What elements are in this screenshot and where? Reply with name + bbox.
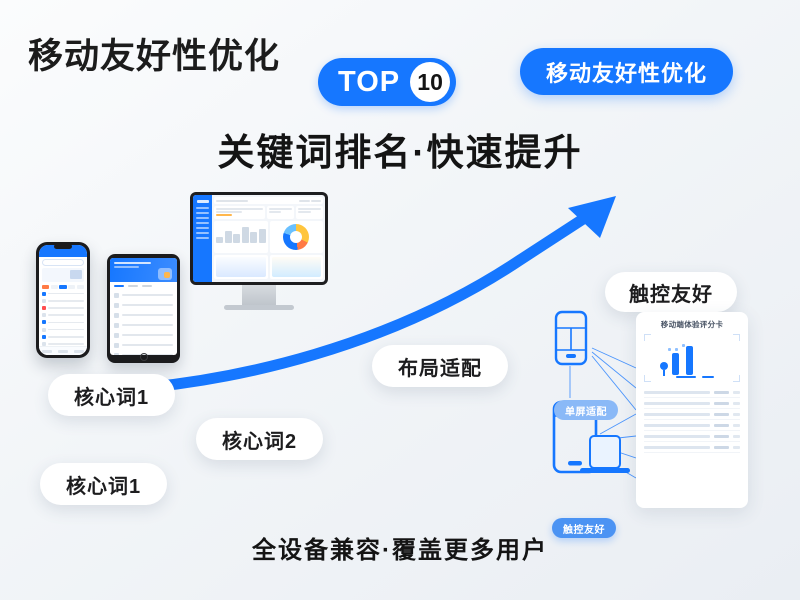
header-blue-pill: 移动友好性优化 [520,48,733,95]
list-icon [114,323,119,328]
list-item [110,330,177,340]
top-rank-badge: TOP 10 [318,58,456,106]
footer-tagline: 全设备兼容·覆盖更多用户 [0,530,800,565]
list-text [122,334,173,336]
donut-chart-card [270,221,324,253]
list-icon [114,353,119,356]
list-text [122,344,173,346]
list-item [39,319,87,326]
scorecard-row [644,442,740,453]
touch-friendly-diagram: 触控友好 单屏适配 触控友好 移动端体验评分卡 [540,262,790,512]
row-value [714,413,729,416]
list-item [39,304,87,311]
stat-card [267,206,294,219]
toolbar-search-icon [216,200,248,202]
scorecard-bars [658,340,726,375]
list-text [122,314,173,316]
top-badge-number: 10 [410,62,450,102]
sidebar-nav-item [196,217,209,219]
tab-item [142,285,152,287]
layout-adapt-pill: 布局适配 [372,345,508,387]
area-chart-card [270,255,324,279]
toolbar-item [299,200,310,202]
scorecard-row [644,409,740,420]
row-label [644,391,710,394]
row-value [714,424,729,427]
dashboard-chart-row [214,221,323,253]
list-item [110,290,177,300]
row-score [733,435,740,438]
keyword-pill-3: 核心词1 [40,463,167,505]
phone-promo-card [42,268,84,282]
list-icon [42,320,46,324]
row-score [733,402,740,405]
hero-illustration-icon [158,268,172,280]
list-icon [42,306,46,310]
tablet-hero-banner [110,258,177,282]
row-value [714,446,729,449]
dashboard-main [212,195,325,282]
row-label [644,402,710,405]
row-label [644,446,710,449]
dashboard-filter-row [214,206,323,219]
row-value [714,391,729,394]
monitor-screen [190,192,328,285]
list-text [48,314,84,316]
scorecard-row [644,431,740,442]
bar [233,234,240,243]
stat-card [296,206,323,219]
device-cluster [22,192,322,392]
filter-card [214,206,265,219]
monitor-base [224,305,294,310]
phone-search-input [42,259,84,266]
dashboard-logo-icon [197,200,209,203]
scorecard-row [644,420,740,431]
list-icon [42,328,46,332]
phone-tab-bar [39,346,87,355]
bar [259,229,266,243]
top-badge-word: TOP [338,66,400,99]
sidebar-nav-item [196,207,209,209]
chip [42,285,49,289]
list-text [48,329,84,331]
keyword-pill-2: 核心词2 [196,418,323,460]
row-value [714,402,729,405]
list-icon [42,292,46,296]
list-item [39,312,87,319]
baseline [676,376,696,378]
list-text [48,322,84,324]
scorecard-row [644,398,740,409]
list-icon [42,335,46,339]
dashboard-trend-row [214,255,323,279]
desktop-monitor [190,192,328,310]
phone-screen [39,245,87,355]
bar [225,231,232,243]
list-item [39,290,87,297]
phone-chip-row [39,283,87,290]
sidebar-nav-item [196,232,209,234]
device-badge-single-screen: 单屏适配 [554,400,618,420]
row-score [733,413,740,416]
bar-chart [216,223,266,243]
bar [672,353,679,375]
dashboard-sidebar [193,195,212,282]
row-score [733,424,740,427]
page-title: 移动友好性优化 [28,28,280,79]
row-label [644,424,710,427]
list-item [39,333,87,340]
chip [59,285,66,289]
list-item [110,320,177,330]
list-text [48,336,84,338]
mobile-experience-scorecard: 移动端体验评分卡 [636,312,748,508]
row-value [714,435,729,438]
tab-bar-item [74,350,84,353]
placeholder-line-accent [216,214,232,216]
tablet-tabs [110,282,177,290]
list-item [110,310,177,320]
chip [68,285,75,289]
placeholder-line [269,211,282,213]
placeholder-line [216,211,242,213]
bar-chart-card [214,221,268,253]
list-text [122,294,173,296]
row-label [644,435,710,438]
toolbar-item [311,200,322,202]
tab-item [128,285,138,287]
bar [686,346,693,375]
list-icon [114,333,119,338]
donut-chart [283,224,309,250]
list-item [39,326,87,333]
line-chart [216,257,266,277]
tablet-screen [110,258,177,355]
list-icon [114,313,119,318]
list-item [110,300,177,310]
dashboard-ui [193,195,325,282]
list-text [48,307,84,309]
tablet-device [107,254,180,363]
tab-bar-item [58,350,68,353]
keyword-pill-1: 核心词1 [48,374,175,416]
list-text [122,324,173,326]
phone-device [36,242,90,358]
sidebar-nav-item [196,227,209,229]
tablet-home-button [140,353,148,361]
location-pin-icon [660,362,668,370]
line-chart-card [214,255,268,279]
chip [77,285,84,289]
frame-corner-icon [733,334,740,341]
promo-thumbnail [70,270,82,279]
list-item [110,340,177,350]
tab-item [114,285,124,287]
list-icon [42,299,46,303]
bar [250,232,257,243]
scorecard-chart [644,334,740,382]
row-label [644,413,710,416]
bar [242,227,249,243]
placeholder-line [216,208,263,210]
list-text [48,300,84,302]
placeholder-line [298,208,321,210]
scorecard-title: 移动端体验评分卡 [644,319,740,330]
row-score [733,446,740,449]
phone-notch [54,244,72,249]
list-text [122,354,173,355]
placeholder-line [114,262,151,264]
row-score [733,391,740,394]
list-icon [114,293,119,298]
area-chart [272,257,322,277]
frame-corner-icon [644,375,651,382]
list-item [39,297,87,304]
placeholder-line [269,208,292,210]
sidebar-nav-item [196,237,209,239]
bar [216,237,223,243]
placeholder-line [114,266,139,268]
sidebar-nav-item [196,212,209,214]
dashboard-toolbar [214,197,323,204]
sidebar-nav-item [196,222,209,224]
tab-bar-item [42,350,52,353]
scorecard-row [644,387,740,398]
monitor-stand [242,285,276,305]
placeholder-line [298,211,311,213]
list-text [48,343,84,345]
frame-corner-icon [644,334,651,341]
list-text [48,293,84,295]
list-icon [42,313,46,317]
frame-corner-icon [733,375,740,382]
list-text [122,304,173,306]
chip [51,285,58,289]
list-icon [114,303,119,308]
list-icon [114,343,119,348]
baseline [702,376,714,378]
